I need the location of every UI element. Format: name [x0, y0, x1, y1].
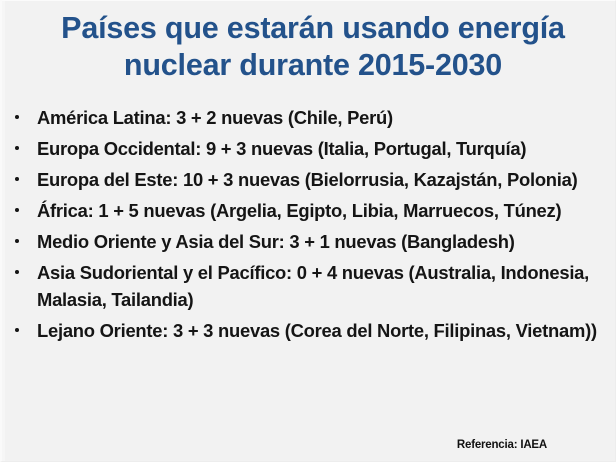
page-title-line-1: Países que estarán usando energía: [17, 10, 609, 47]
source-reference: Referencia: IAEA: [457, 438, 547, 452]
bullet-dot-icon: [15, 146, 19, 150]
list-item: Europa del Este: 10 + 3 nuevas (Bielorru…: [13, 167, 613, 194]
list-item-label: Asia Sudoriental y el Pacífico: 0 + 4 nu…: [37, 260, 613, 313]
list-item-label: Europa del Este: 10 + 3 nuevas (Bielorru…: [37, 167, 613, 194]
slide: Países que estarán usando energía nuclea…: [0, 0, 616, 462]
list-item-label: Europa Occidental: 9 + 3 nuevas (Italia,…: [37, 136, 613, 163]
page-title: Países que estarán usando energía nuclea…: [17, 10, 609, 84]
list-item-label: Lejano Oriente: 3 + 3 nuevas (Corea del …: [37, 318, 613, 345]
list-item: Europa Occidental: 9 + 3 nuevas (Italia,…: [13, 136, 613, 163]
list-item-label: América Latina: 3 + 2 nuevas (Chile, Per…: [37, 105, 613, 132]
list-item: Medio Oriente y Asia del Sur: 3 + 1 nuev…: [13, 229, 613, 256]
bullet-dot-icon: [15, 328, 19, 332]
list-item: Lejano Oriente: 3 + 3 nuevas (Corea del …: [13, 318, 613, 345]
page-title-line-2: nuclear durante 2015-2030: [17, 47, 609, 84]
list-item: África: 1 + 5 nuevas (Argelia, Egipto, L…: [13, 198, 613, 225]
list-item: Asia Sudoriental y el Pacífico: 0 + 4 nu…: [13, 260, 613, 313]
bullet-dot-icon: [15, 208, 19, 212]
bullet-dot-icon: [15, 239, 19, 243]
region-bullet-list: América Latina: 3 + 2 nuevas (Chile, Per…: [13, 105, 613, 349]
bullet-dot-icon: [15, 115, 19, 119]
slide-content-area: Países que estarán usando energía nuclea…: [2, 1, 615, 461]
list-item: América Latina: 3 + 2 nuevas (Chile, Per…: [13, 105, 613, 132]
bullet-dot-icon: [15, 270, 19, 274]
bullet-dot-icon: [15, 177, 19, 181]
list-item-label: África: 1 + 5 nuevas (Argelia, Egipto, L…: [37, 198, 613, 225]
list-item-label: Medio Oriente y Asia del Sur: 3 + 1 nuev…: [37, 229, 613, 256]
